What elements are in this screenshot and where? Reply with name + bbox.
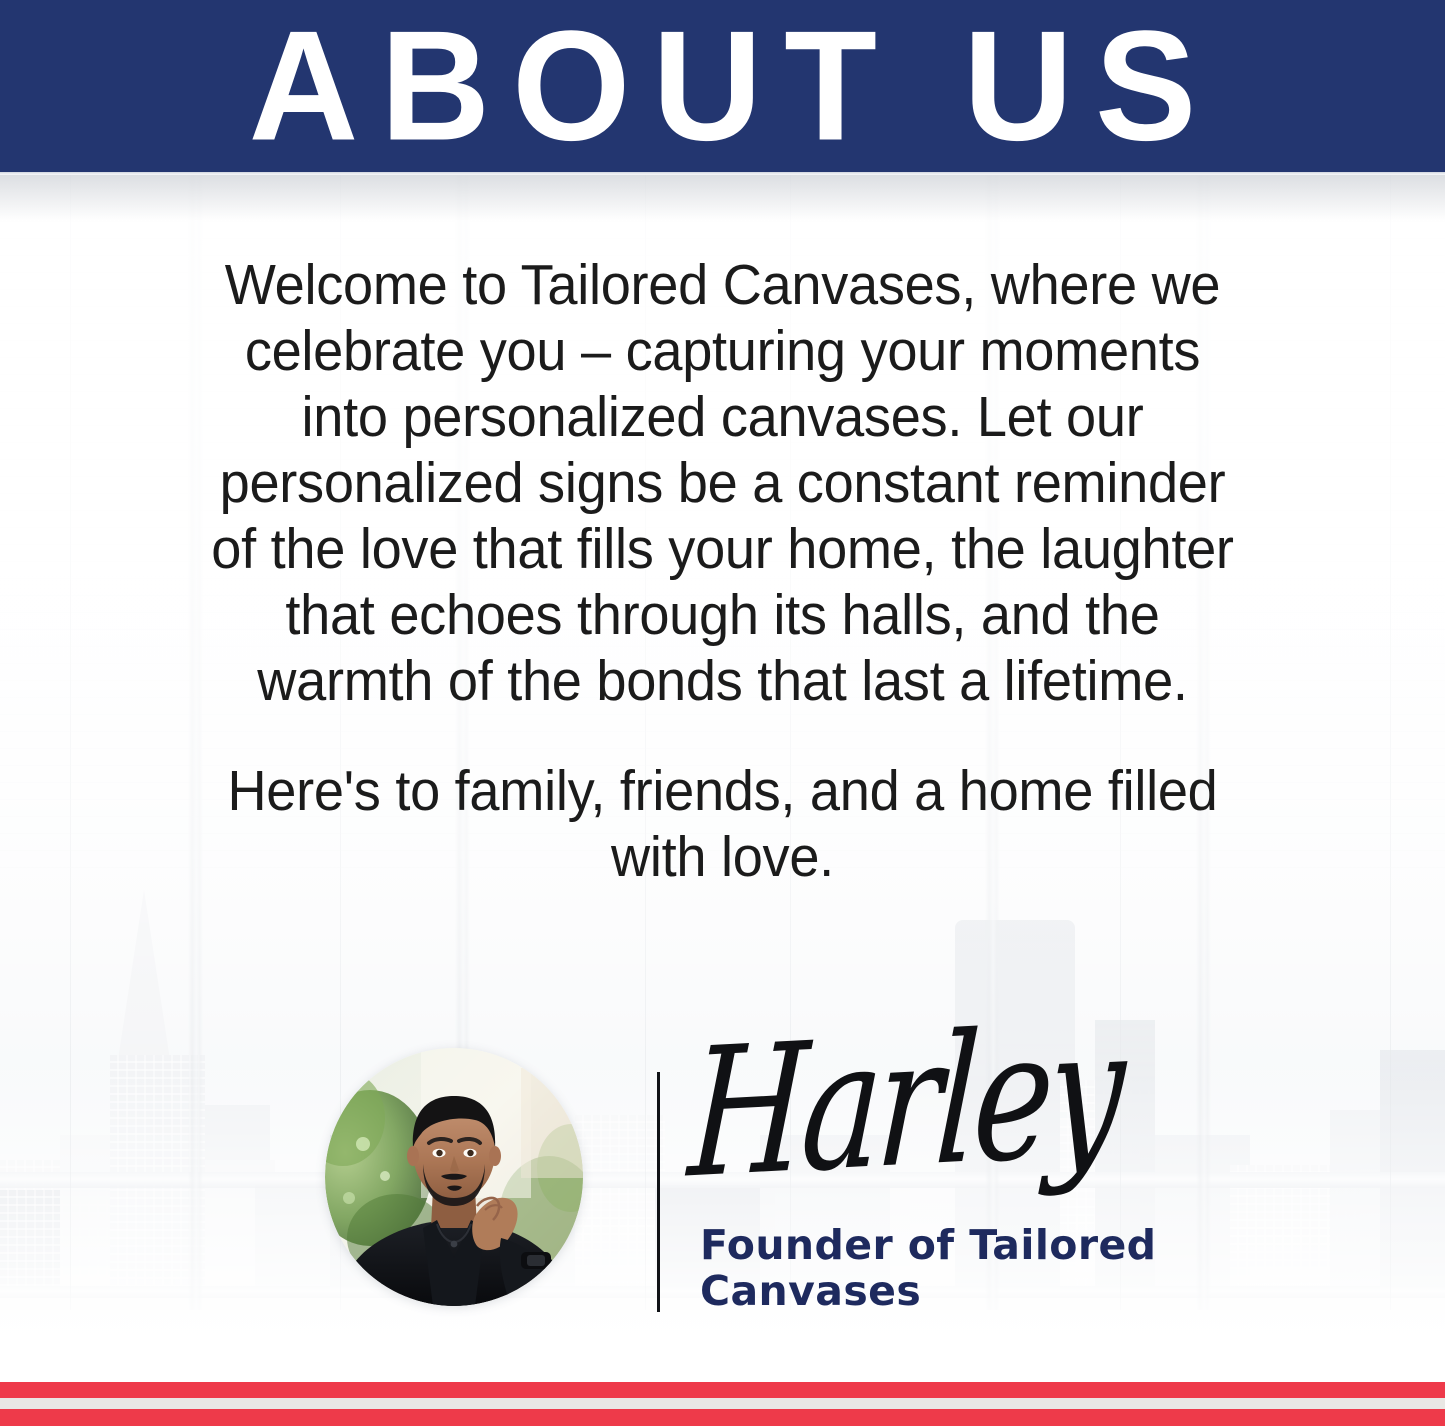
about-paragraph-2: Here's to family, friends, and a home fi… (198, 758, 1248, 890)
footer-stripe-gap (0, 1398, 1445, 1409)
header-dropshadow (0, 175, 1445, 221)
founder-avatar (325, 1048, 583, 1306)
founder-role-line-2: Canvases (700, 1268, 1170, 1314)
founder-role-line-1: Founder of Tailored (700, 1222, 1170, 1268)
footer-stripe-bottom (0, 1409, 1445, 1426)
founder-role: Founder of Tailored Canvases (700, 1222, 1170, 1314)
founder-signature: Harley (685, 1004, 1123, 1204)
footer-stripe-top (0, 1382, 1445, 1398)
signature-divider (657, 1072, 660, 1312)
page-title: ABOUT US (227, 8, 1219, 165)
paragraph-spacer (198, 714, 1248, 758)
header-underline (0, 172, 1445, 175)
page-header: ABOUT US (0, 0, 1445, 172)
about-copy: Welcome to Tailored Canvases, where we c… (198, 252, 1248, 890)
about-us-banner: ABOUT US Welcome to Tailored Canvases, w… (0, 0, 1445, 1426)
about-paragraph-1: Welcome to Tailored Canvases, where we c… (198, 252, 1248, 714)
